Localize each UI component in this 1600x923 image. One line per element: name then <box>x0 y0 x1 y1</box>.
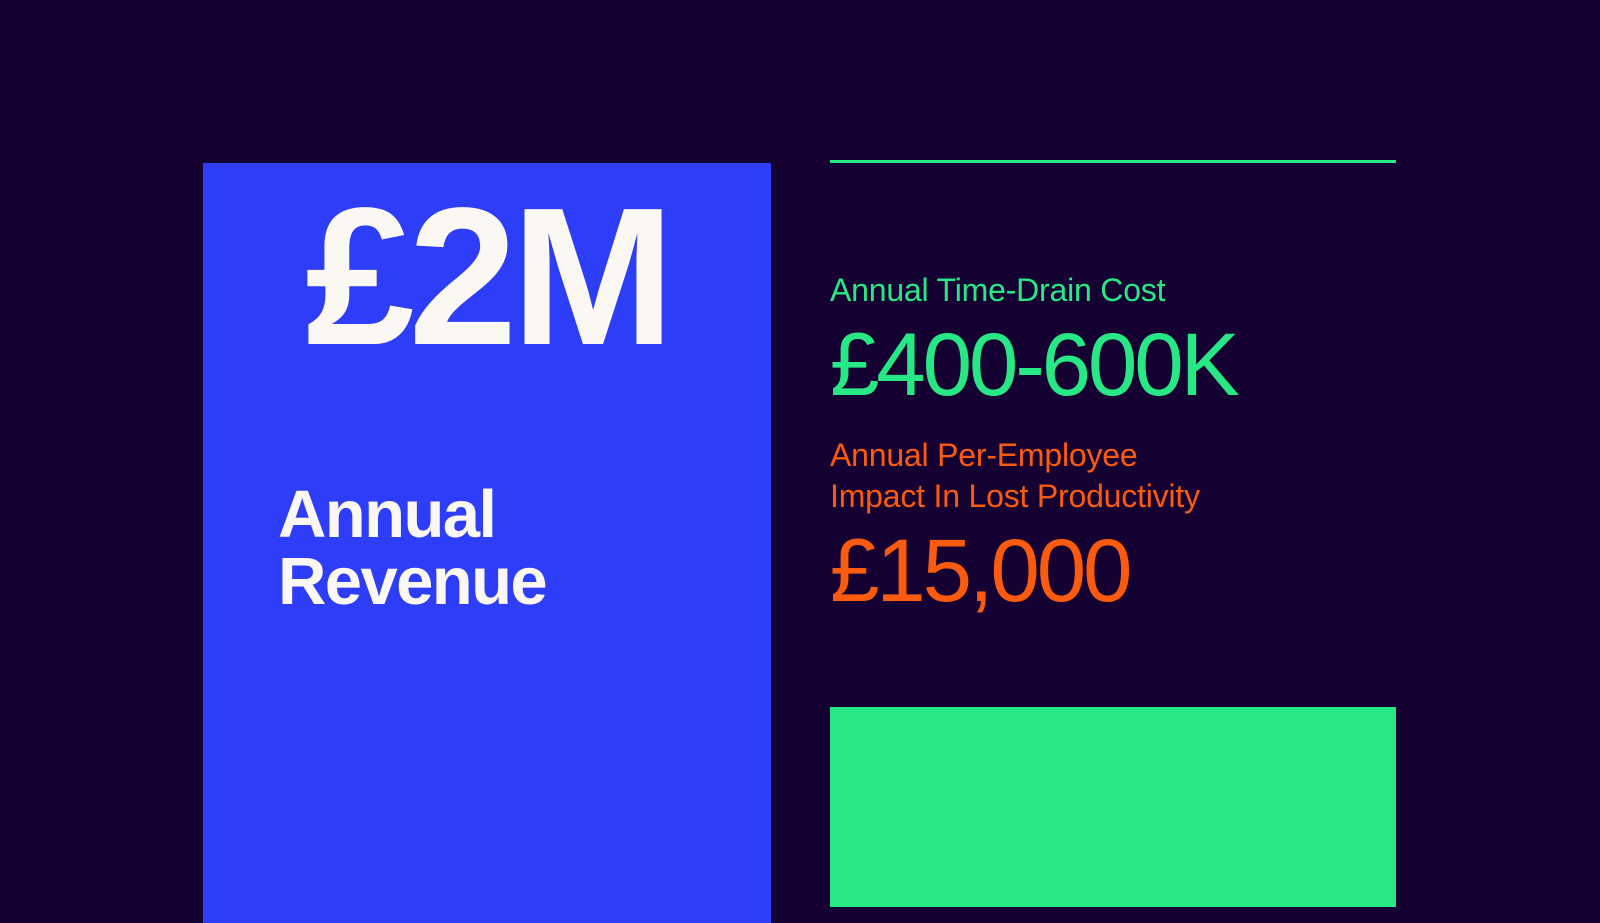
annual-revenue-caption-line-2: Revenue <box>278 548 748 615</box>
metric-annual-time-drain-cost: Annual Time-Drain Cost £400-600K <box>830 270 1396 411</box>
metric-label: Annual Per-Employee Impact In Lost Produ… <box>830 435 1396 517</box>
green-accent-block <box>830 707 1396 907</box>
metric-value: £15,000 <box>830 517 1396 617</box>
annual-revenue-caption: Annual Revenue <box>278 481 748 615</box>
metric-value: £400-600K <box>830 311 1396 411</box>
metric-label-line-1: Annual Time-Drain Cost <box>830 270 1396 311</box>
annual-revenue-figure: £2M <box>203 187 771 367</box>
annual-revenue-panel: £2M Annual Revenue <box>203 163 771 923</box>
metric-label: Annual Time-Drain Cost <box>830 270 1396 311</box>
metric-annual-per-employee-impact: Annual Per-Employee Impact In Lost Produ… <box>830 435 1396 617</box>
slide-canvas: £2M Annual Revenue Annual Time-Drain Cos… <box>0 0 1600 900</box>
metric-label-line-2: Impact In Lost Productivity <box>830 476 1396 517</box>
metric-label-line-1: Annual Per-Employee <box>830 435 1396 476</box>
metrics-divider-rule <box>830 160 1396 163</box>
annual-revenue-caption-line-1: Annual <box>278 481 748 548</box>
